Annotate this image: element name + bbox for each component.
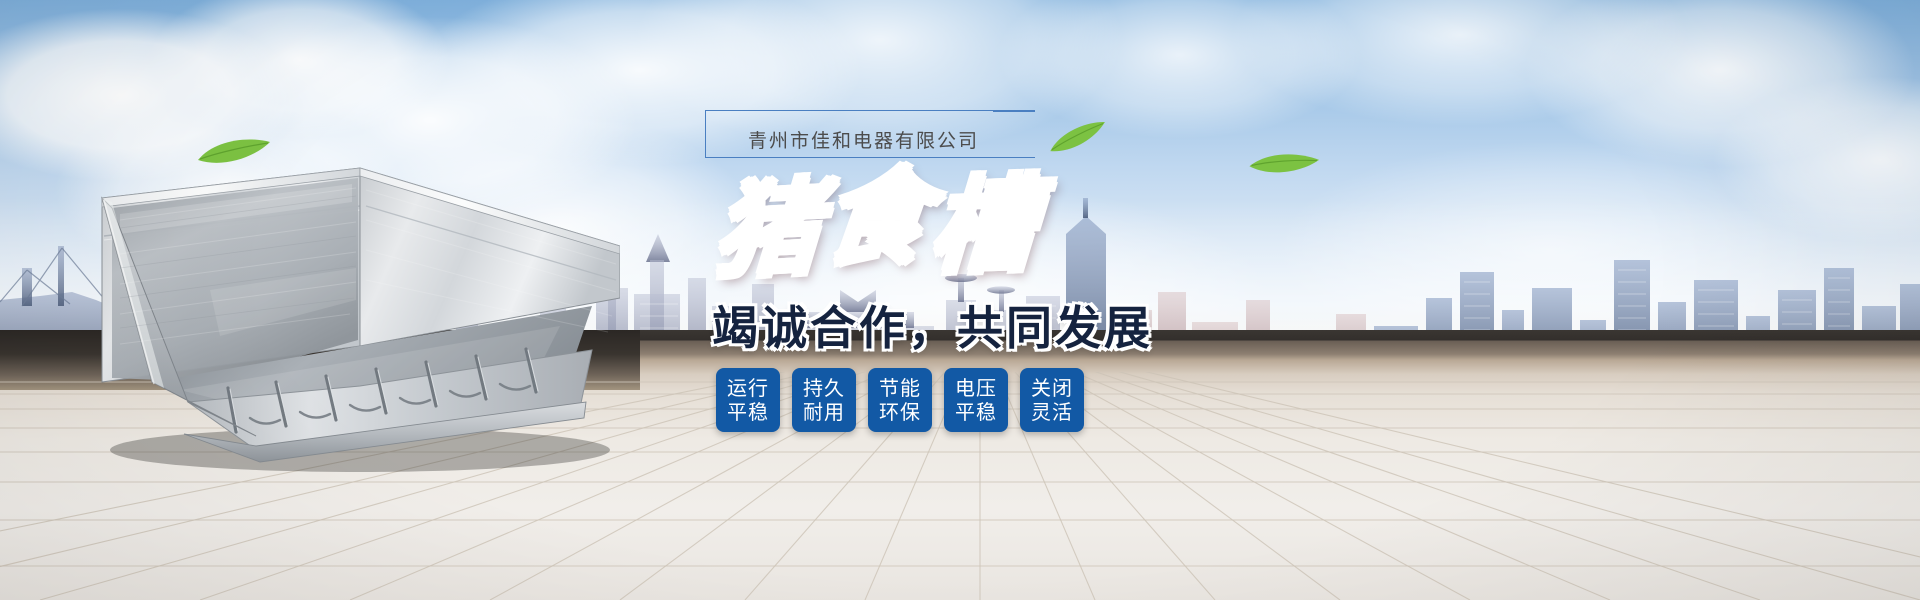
feature-badge-1[interactable]: 运行 平稳 (716, 368, 780, 432)
feature-badge-3-line2: 环保 (879, 401, 921, 424)
feature-badge-2-line1: 持久 (803, 377, 845, 400)
leaf-icon (196, 136, 272, 170)
subtitle-slogan: 竭诚合作，共同发展 (712, 292, 1153, 358)
page-title: 猪 食 槽 (710, 172, 1040, 292)
feature-badge-4[interactable]: 电压 平稳 (944, 368, 1008, 432)
product-banner: 青州市佳和电器有限公司 猪 食 槽 竭诚合作，共同发展 运行 平稳 持久 耐用 … (0, 0, 1920, 600)
feature-badge-1-line2: 平稳 (727, 401, 769, 424)
feature-badge-list: 运行 平稳 持久 耐用 节能 环保 电压 平稳 关闭 灵活 (716, 368, 1084, 432)
feature-badge-5[interactable]: 关闭 灵活 (1020, 368, 1084, 432)
banner-copy: 青州市佳和电器有限公司 猪 食 槽 竭诚合作，共同发展 运行 平稳 持久 耐用 … (690, 100, 1250, 560)
company-name: 青州市佳和电器有限公司 (748, 126, 979, 153)
feature-badge-4-line2: 平稳 (955, 401, 997, 424)
feature-badge-5-line2: 灵活 (1031, 401, 1073, 424)
feature-badge-3-line1: 节能 (879, 377, 921, 400)
headline-char-3: 槽 (928, 172, 1038, 280)
feature-badge-2[interactable]: 持久 耐用 (792, 368, 856, 432)
headline-char-1: 猪 (712, 175, 822, 284)
feature-badge-3[interactable]: 节能 环保 (868, 368, 932, 432)
feature-badge-5-line1: 关闭 (1031, 377, 1073, 400)
product-image-pig-feeder (60, 150, 620, 480)
feature-badge-4-line1: 电压 (955, 377, 997, 400)
feature-badge-2-line2: 耐用 (803, 401, 845, 424)
feature-badge-1-line1: 运行 (727, 377, 769, 400)
headline-char-2: 食 (818, 165, 933, 271)
